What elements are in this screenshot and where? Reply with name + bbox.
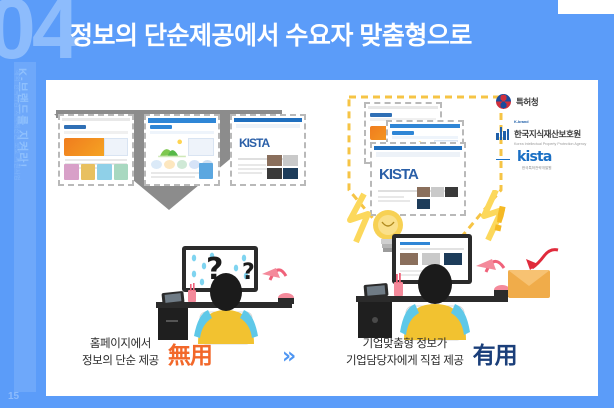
ribbon-sub-text: 해외 한국기업 지식재산권 보호 지원사업 [14,70,22,181]
site-thumbnail-kista: KISTA [230,114,306,186]
chevron-right-icon: » [282,344,291,369]
caption-after-line1: 기업맞춤형 정보가 [346,336,464,353]
thumbnail-grid [267,155,299,179]
slide-root: 04 K-브랜드를 지켜라! 해외 한국기업 지식재산권 보호 지원사업 15 … [0,0,614,408]
kista-wordmark-thumb: KISTA [379,166,457,186]
caption-after-line2: 기업담당자에게 직접 제공 [346,353,464,370]
kista-wordmark-thumb: KISTA [239,136,297,156]
verdict-before: 無用 [168,336,212,370]
ribbon-text-group: K-브랜드를 지켜라! 해외 한국기업 지식재산권 보호 지원사업 [14,62,36,312]
caption-before-line1: 홈페이지에서 [82,336,159,353]
logo-kipa: K-brand 한국지식재산보호원 Korea Intellectual Pro… [496,120,586,146]
caption-row: 홈페이지에서 정보의 단순 제공 無用 » 기업맞춤형 정보가 기업담당자에게 … [46,326,598,396]
logo-kipa-sublabel: Korea Intellectual Property Protection A… [514,142,586,146]
logo-kista-label: kista [517,149,552,165]
logo-kipa-text-group: K-brand 한국지식재산보호원 Korea Intellectual Pro… [514,120,586,146]
caption-before: 홈페이지에서 정보의 단순 제공 無用 [82,336,212,370]
logo-kipo-label: 특허청 [516,96,538,108]
logo-kipo: 특허청 [496,94,538,109]
logo-kipa-label: 한국지식재산보호원 [514,129,581,139]
logo-kista: kista 한국특허전략개발원 [496,148,552,171]
page-number: 15 [8,391,19,402]
logo-kista-text-group: kista 한국특허전략개발원 [517,148,552,171]
logo-kista-sublabel: 한국특허전략개발원 [517,166,552,171]
verdict-after: 有用 [473,336,517,370]
before-group: KISTA [46,80,322,340]
question-mark-small: ? [242,260,255,285]
caption-before-line2: 정보의 단순 제공 [82,353,159,370]
eco-illustration-icon [156,138,188,158]
page-title: 정보의 단순제공에서 수요자 맞춤형으로 [70,16,590,52]
caption-after-lines: 기업맞춤형 정보가 기업담당자에게 직접 제공 [346,336,464,369]
corner-notch [558,0,614,14]
content-card: KISTA [46,80,598,396]
logo-kipa-toptext: K-brand [514,120,586,124]
taegeuk-icon [496,94,511,109]
caption-before-lines: 홈페이지에서 정보의 단순 제공 [82,336,159,369]
chapter-number: 04 [0,0,76,72]
bars-icon [496,127,509,140]
site-thumbnail-portal [58,114,134,186]
question-mark-large: ? [206,252,223,287]
envelope-icon [508,270,550,298]
caption-after: 기업맞춤형 정보가 기업담당자에게 직접 제공 有用 [346,336,517,370]
kista-rule-icon [496,159,510,161]
site-thumbnail-eco [144,114,220,186]
logo-column: 특허청 K-brand 한국지식재산보호원 Korea Intellectual… [496,88,596,238]
